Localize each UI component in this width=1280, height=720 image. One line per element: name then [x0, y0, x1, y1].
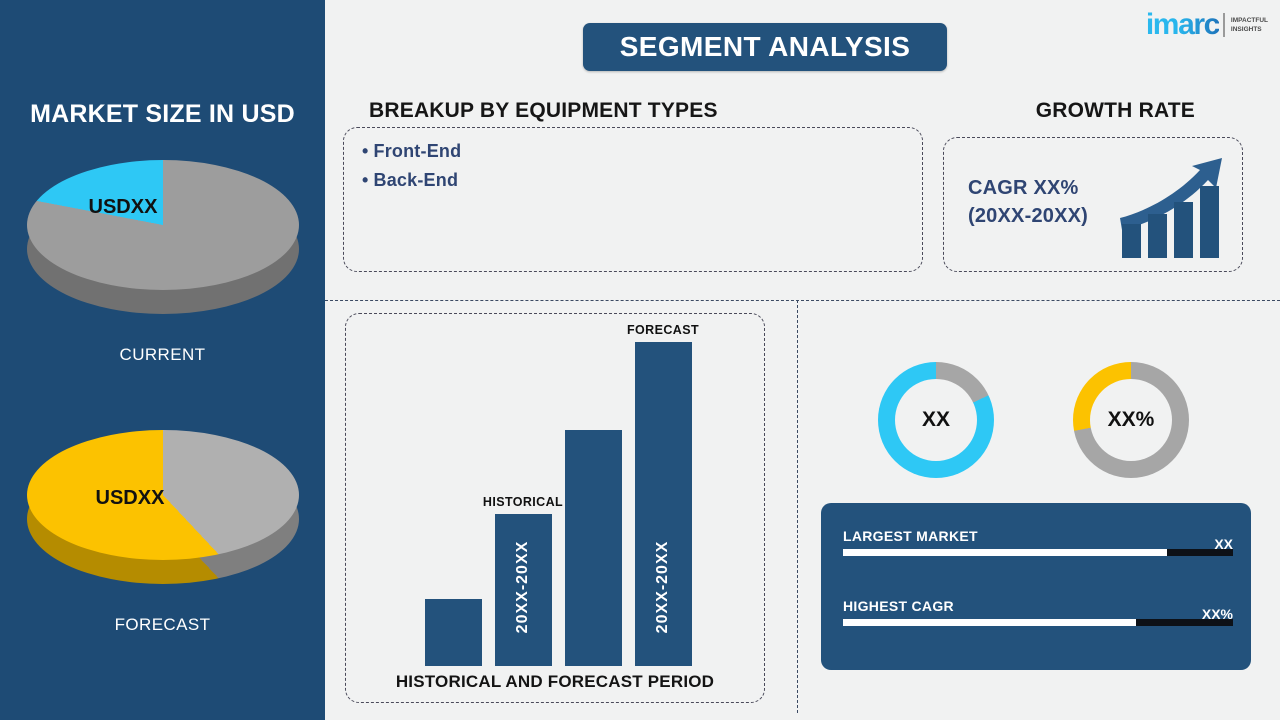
logo-tagline-line2: INSIGHTS [1231, 26, 1262, 33]
stat-progress-fill [843, 549, 1167, 556]
imarc-logo: imarc IMPACTFUL INSIGHTS [1146, 10, 1268, 40]
page-title-badge: SEGMENT ANALYSIS [583, 23, 947, 71]
largest-market-donut: XX [878, 362, 994, 478]
vertical-divider [797, 300, 798, 713]
stat-progress-track [843, 619, 1233, 626]
historical-forecast-chart-box: 20XX-20XXHISTORICAL20XX-20XXFORECAST HIS… [345, 313, 765, 703]
logo-tagline: IMPACTFUL INSIGHTS [1231, 17, 1268, 35]
forecast-pie-chart: USDXX [27, 430, 299, 605]
stat-progress-fill [843, 619, 1136, 626]
bar-period-label: 20XX-20XX [654, 512, 672, 662]
forecast-market-size-block: USDXX FORECAST [0, 430, 325, 635]
stat-label: LARGEST MARKET [843, 528, 1233, 544]
list-item-label: Front-End [374, 141, 462, 161]
bar-annotation: HISTORICAL [483, 495, 563, 509]
sidebar-title: MARKET SIZE IN USD [0, 100, 325, 129]
current-market-size-block: USDXX CURRENT [0, 160, 325, 365]
current-pie-caption: CURRENT [0, 345, 325, 365]
market-size-sidebar: MARKET SIZE IN USD USDXX CURRENT USDXX F… [0, 0, 325, 720]
logo-divider-icon [1223, 13, 1225, 37]
bar-period-label: 20XX-20XX [514, 512, 532, 662]
growth-arrow-bars-icon [1118, 156, 1228, 261]
stat-largest-market: LARGEST MARKET XX [843, 528, 1233, 556]
stat-label: HIGHEST CAGR [843, 598, 1233, 614]
cagr-period: (20XX-20XX) [968, 202, 1088, 230]
bullet-icon: • [362, 170, 369, 190]
bar-chart-caption: HISTORICAL AND FORECAST PERIOD [346, 672, 764, 692]
infographic-root: MARKET SIZE IN USD USDXX CURRENT USDXX F… [0, 0, 1280, 720]
current-pie-value-label: USDXX [89, 196, 158, 219]
equipment-types-list: •Front-End •Back-End [362, 137, 461, 195]
forecast-pie-caption: FORECAST [0, 615, 325, 635]
list-item-label: Back-End [374, 170, 459, 190]
highest-cagr-donut: XX% [1073, 362, 1189, 478]
bar-1 [425, 599, 482, 666]
bullet-icon: • [362, 141, 369, 161]
cagr-value: CAGR XX% [968, 174, 1088, 202]
bar-3 [565, 430, 622, 666]
growth-rate-heading: GROWTH RATE [325, 99, 1280, 123]
largest-market-donut-value: XX [895, 379, 977, 461]
key-stats-panel: LARGEST MARKET XX HIGHEST CAGR XX% [821, 503, 1251, 670]
logo-tagline-line1: IMPACTFUL [1231, 17, 1268, 24]
forecast-pie-value-label: USDXX [96, 487, 165, 510]
stat-highest-cagr: HIGHEST CAGR XX% [843, 598, 1233, 626]
horizontal-divider [325, 300, 1280, 301]
equipment-types-box: •Front-End •Back-End [343, 127, 923, 272]
bar-chart-plot: 20XX-20XXHISTORICAL20XX-20XXFORECAST [346, 314, 764, 666]
growth-rate-box: CAGR XX% (20XX-20XX) [943, 137, 1243, 272]
list-item: •Front-End [362, 137, 461, 166]
current-pie-chart: USDXX [27, 160, 299, 335]
cagr-text: CAGR XX% (20XX-20XX) [968, 174, 1088, 230]
stat-progress-track [843, 549, 1233, 556]
current-pie-surface [27, 160, 299, 290]
bar-annotation: FORECAST [627, 323, 699, 337]
list-item: •Back-End [362, 166, 461, 195]
bar-2: 20XX-20XX [495, 514, 552, 666]
bar-4: 20XX-20XX [635, 342, 692, 666]
highest-cagr-donut-value: XX% [1090, 379, 1172, 461]
imarc-wordmark: imarc [1146, 10, 1219, 40]
